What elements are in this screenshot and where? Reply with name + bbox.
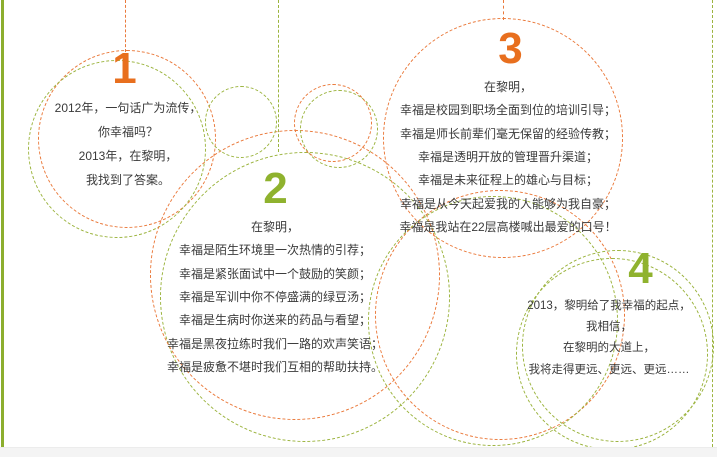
block-lines-2: 在黎明， 幸福是陌生环境里一次热情的引荐； 幸福是紧张面试中一个鼓励的笑颜； 幸… — [150, 216, 400, 380]
block-line: 幸福是军训中你不停盛满的绿豆汤； — [150, 286, 400, 309]
block-number-2: 2 — [150, 168, 400, 210]
block-line: 幸福是校园到职场全面到位的培训引导； — [378, 99, 638, 122]
block-line: 幸福是我站在22层高楼喊出最爱的口号！ — [378, 216, 638, 239]
block-number-4: 4 — [565, 248, 715, 290]
block-line: 幸福是从今天起爱我的人能够为我自豪； — [378, 193, 638, 216]
block-line: 在黎明的大道上， — [503, 338, 715, 359]
block-line: 2013年，在黎明， — [28, 144, 228, 168]
content-block-4: 4 2013，黎明给了我幸福的起点， 我相信， 在黎明的大道上， 我将走得更远、… — [503, 248, 715, 381]
block-line: 幸福是黑夜拉练时我们一路的欢声笑语； — [150, 333, 400, 356]
block-line: 在黎明， — [378, 76, 638, 99]
block-line: 在黎明， — [150, 216, 400, 239]
content-block-3: 3 在黎明， 幸福是校园到职场全面到位的培训引导； 幸福是师长前辈们毫无保留的经… — [378, 28, 638, 240]
right-edge-rule — [712, 0, 713, 457]
circle-orange-aux-1 — [294, 84, 372, 162]
block-line: 幸福是陌生环境里一次热情的引荐； — [150, 239, 400, 262]
block-number-3: 3 — [382, 28, 638, 70]
left-edge-rule — [1, 0, 4, 457]
block-line: 2012年，一句话广为流传， — [28, 96, 228, 120]
connector-line-2 — [278, 0, 279, 152]
block-lines-3: 在黎明， 幸福是校园到职场全面到位的培训引导； 幸福是师长前辈们毫无保留的经验传… — [378, 76, 638, 240]
block-line: 你幸福吗？ — [28, 120, 228, 144]
block-line: 幸福是透明开放的管理晋升渠道； — [378, 146, 638, 169]
block-number-1: 1 — [20, 48, 228, 90]
content-block-2: 2 在黎明， 幸福是陌生环境里一次热情的引荐； 幸福是紧张面试中一个鼓励的笑颜；… — [150, 168, 400, 380]
poster-canvas: 1 2012年，一句话广为流传， 你幸福吗？ 2013年，在黎明， 我找到了答案… — [0, 0, 717, 457]
block-line: 幸福是未来征程上的雄心与目标； — [378, 169, 638, 192]
bottom-band — [0, 447, 717, 457]
block-line: 我相信， — [503, 317, 715, 338]
block-line: 幸福是师长前辈们毫无保留的经验传教； — [378, 123, 638, 146]
block-lines-4: 2013，黎明给了我幸福的起点， 我相信， 在黎明的大道上， 我将走得更远、更远… — [503, 296, 715, 381]
block-line: 幸福是紧张面试中一个鼓励的笑颜； — [150, 263, 400, 286]
block-line: 幸福是生病时你送来的药品与看望； — [150, 309, 400, 332]
block-line: 2013，黎明给了我幸福的起点， — [503, 296, 715, 317]
connector-line-3 — [503, 0, 504, 20]
block-line: 幸福是疲惫不堪时我们互相的帮助扶持。 — [150, 356, 400, 379]
block-line: 我将走得更远、更远、更远…… — [503, 360, 715, 381]
